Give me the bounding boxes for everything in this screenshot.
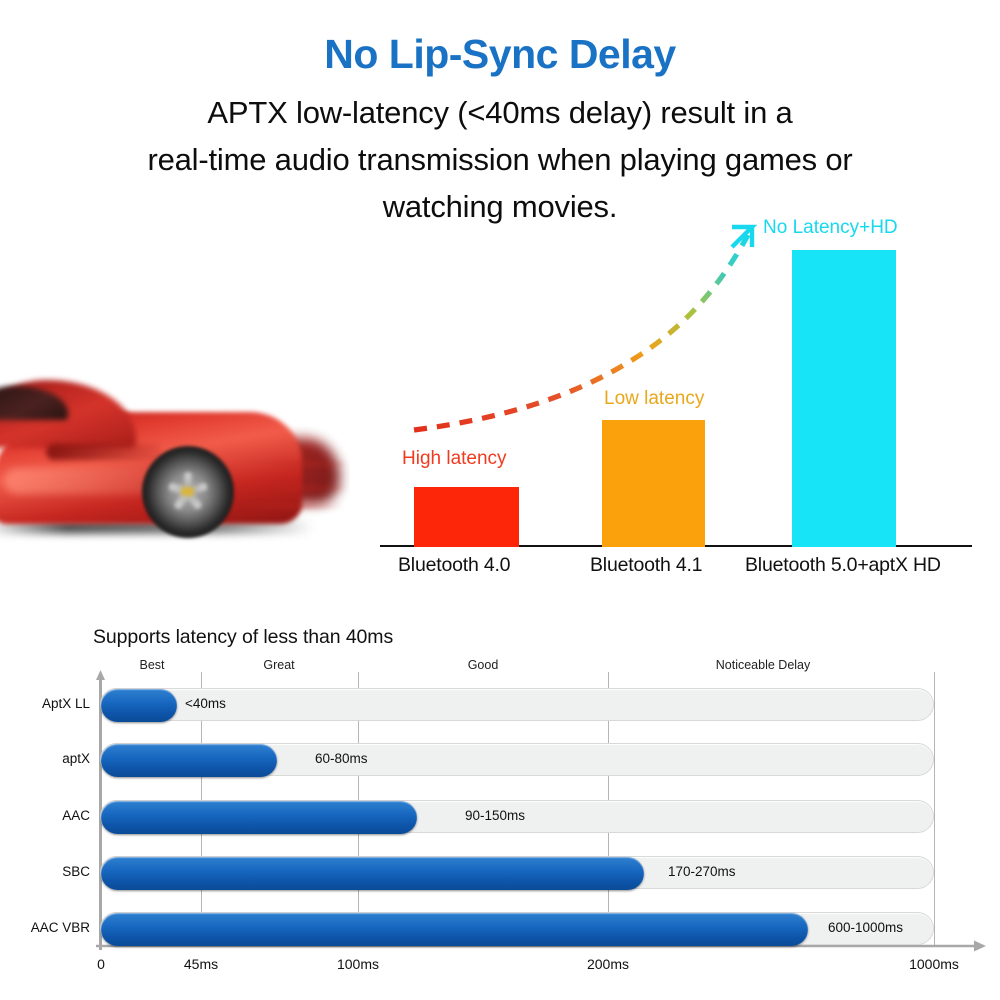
codec-latency-chart: Supports latency of less than 40ms Best …	[0, 608, 1000, 1000]
motion-streak	[270, 486, 348, 490]
value-aac: 90-150ms	[465, 808, 525, 823]
xtick-0: 0	[97, 956, 105, 972]
headline-block: No Lip-Sync Delay APTX low-latency (<40m…	[0, 0, 1000, 230]
value-aptx: 60-80ms	[315, 751, 368, 766]
row-label-aac-vbr: AAC VBR	[8, 920, 90, 935]
bar-bluetooth-50-aptx-hd	[792, 250, 896, 547]
bar-bluetooth-41	[602, 420, 705, 547]
motion-streak	[240, 504, 344, 508]
bar-aac	[101, 801, 417, 834]
xtick-45ms: 45ms	[184, 956, 218, 972]
bar-label-bluetooth-41: Bluetooth 4.1	[590, 554, 702, 577]
row-label-aac: AAC	[8, 808, 90, 823]
xtick-1000ms: 1000ms	[909, 956, 959, 972]
bluetooth-latency-bar-chart: No Latency+HD High latency Bluetooth 4.0…	[380, 205, 980, 585]
row-label-sbc: SBC	[8, 864, 90, 879]
gridline-1000ms	[934, 672, 935, 946]
bar-aptx	[101, 744, 277, 777]
value-aptx-ll: <40ms	[185, 696, 226, 711]
no-latency-annotation: No Latency+HD	[763, 217, 898, 239]
zone-label-best: Best	[139, 658, 164, 672]
high-latency-annotation: High latency	[402, 448, 507, 470]
sports-car-image	[0, 352, 350, 587]
zone-label-good: Good	[468, 658, 499, 672]
track-sbc[interactable]	[100, 856, 934, 889]
subtitle-line-1: APTX low-latency (<40ms delay) result in…	[55, 89, 945, 136]
subtitle-line-2: real-time audio transmission when playin…	[55, 136, 945, 183]
value-aac-vbr: 600-1000ms	[828, 920, 903, 935]
zone-label-great: Great	[263, 658, 294, 672]
xtick-200ms: 200ms	[587, 956, 629, 972]
xtick-100ms: 100ms	[337, 956, 379, 972]
bar-label-bluetooth-50-aptx-hd: Bluetooth 5.0+aptX HD	[745, 554, 941, 577]
bar-sbc	[101, 857, 644, 890]
bar-label-bluetooth-40: Bluetooth 4.0	[398, 554, 510, 577]
track-aac-vbr[interactable]	[100, 912, 934, 945]
car-wheel	[142, 446, 234, 538]
value-sbc: 170-270ms	[668, 864, 736, 879]
bar-aac-vbr	[101, 913, 808, 946]
page-title: No Lip-Sync Delay	[0, 34, 1000, 75]
car-side-vent	[46, 444, 162, 460]
motion-streak	[260, 462, 350, 466]
row-label-aptx: aptX	[8, 751, 90, 766]
row-label-aptx-ll: AptX LL	[8, 696, 90, 711]
track-aptx[interactable]	[100, 743, 934, 776]
bar-aptx-ll	[101, 689, 177, 722]
codec-chart-title: Supports latency of less than 40ms	[93, 626, 393, 649]
bar-bluetooth-40	[414, 487, 519, 547]
low-latency-annotation: Low latency	[604, 388, 704, 410]
wheel-spoke	[184, 472, 192, 512]
zone-label-noticeable-delay: Noticeable Delay	[716, 658, 811, 672]
